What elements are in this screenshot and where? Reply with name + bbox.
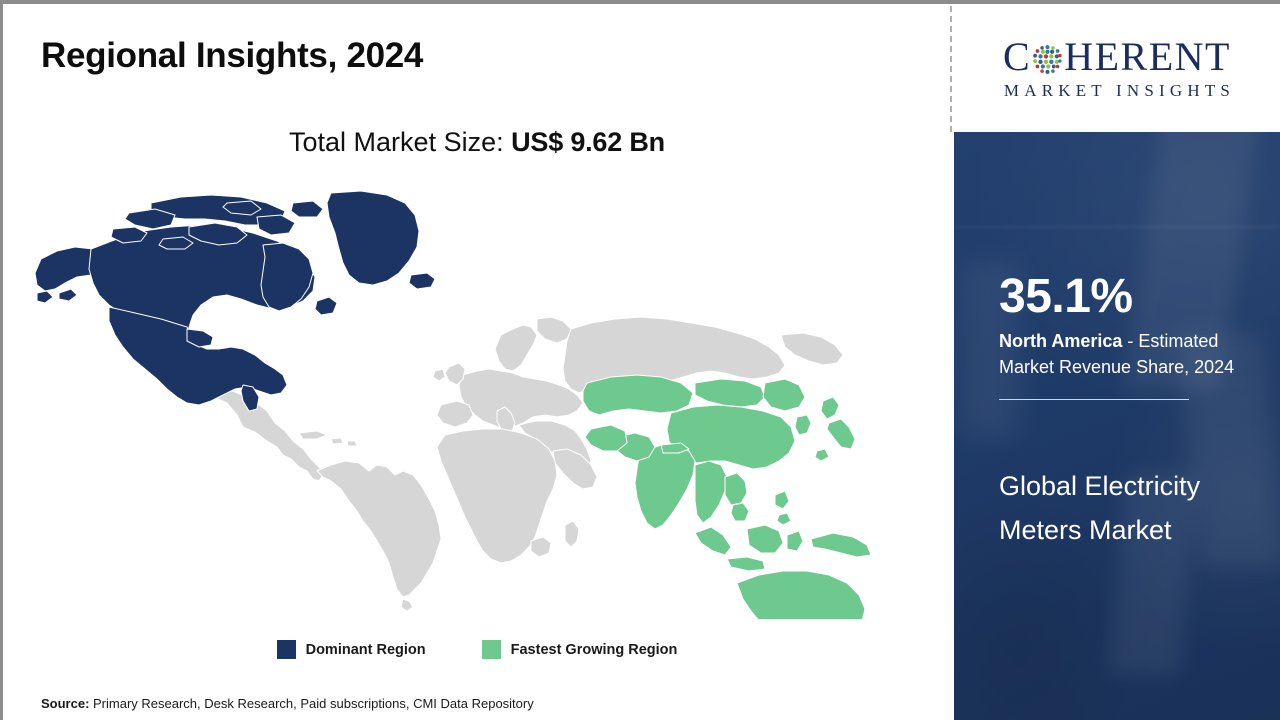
legend-swatch-fastest-growing-icon xyxy=(482,640,501,659)
logo-wordmark: C xyxy=(1003,37,1231,77)
map-dominant-regions xyxy=(35,191,435,411)
source-text: Primary Research, Desk Research, Paid su… xyxy=(93,696,534,711)
source-note: Source: Primary Research, Desk Research,… xyxy=(41,696,534,711)
logo-subtitle: MARKET INSIGHTS xyxy=(999,81,1235,101)
world-map xyxy=(31,189,911,619)
market-name: Global Electricity Meters Market xyxy=(999,465,1255,552)
world-map-svg xyxy=(31,189,911,619)
total-market-size-value: US$ 9.62 Bn xyxy=(511,127,665,157)
stat-description: North America - Estimated Market Revenue… xyxy=(999,329,1271,380)
stat-percentage: 35.1% xyxy=(999,272,1271,322)
logo-letter-c: C xyxy=(1003,37,1031,77)
legend-item-dominant: Dominant Region xyxy=(277,640,426,659)
stat-region-name: North America xyxy=(999,331,1122,351)
logo-letters-rest: HERENT xyxy=(1064,37,1231,77)
stat-block: 35.1% North America - Estimated Market R… xyxy=(999,272,1271,400)
globe-dots-icon xyxy=(1032,44,1063,75)
source-label: Source: xyxy=(41,696,93,711)
stat-divider-rule xyxy=(999,399,1189,400)
slide-root: Regional Insights, 2024 Total Market Siz… xyxy=(0,0,1280,720)
panel-texture-line xyxy=(954,226,1280,228)
legend-label-dominant: Dominant Region xyxy=(306,642,426,658)
total-market-size-label: Total Market Size: xyxy=(289,127,511,157)
total-market-size: Total Market Size: US$ 9.62 Bn xyxy=(3,127,951,158)
map-legend: Dominant Region Fastest Growing Region xyxy=(3,640,951,659)
page-title: Regional Insights, 2024 xyxy=(41,36,423,76)
brand-logo: C xyxy=(954,6,1280,132)
map-fastest-growing-regions xyxy=(583,375,911,619)
left-content-panel: Regional Insights, 2024 Total Market Siz… xyxy=(3,4,951,720)
legend-swatch-dominant-icon xyxy=(277,640,296,659)
highlight-panel: 35.1% North America - Estimated Market R… xyxy=(954,132,1280,720)
legend-label-fastest-growing: Fastest Growing Region xyxy=(511,642,678,658)
panel-divider xyxy=(950,6,952,132)
legend-item-fastest-growing: Fastest Growing Region xyxy=(482,640,678,659)
